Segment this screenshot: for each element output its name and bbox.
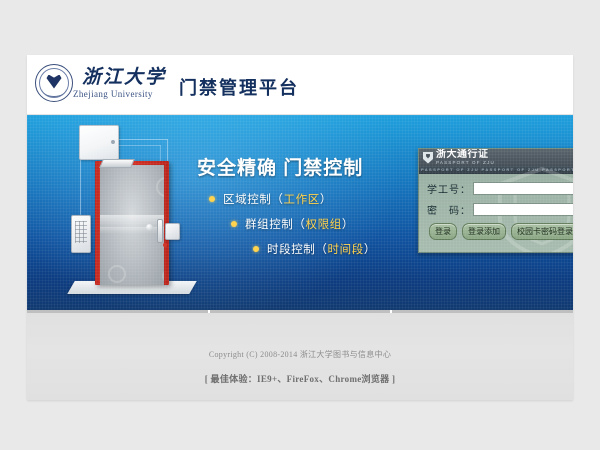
list-item: 区域控制（工作区） <box>209 191 376 207</box>
footer-divider-segment <box>392 310 573 313</box>
banner-headline: 安全精确 门禁控制 <box>197 153 363 180</box>
door-handle-icon <box>157 219 163 243</box>
hero-banner: 安全精确 门禁控制 区域控制（工作区） 群组控制（权限组） 时段控制（时间段） <box>27 115 573 310</box>
page-title: 门禁管理平台 <box>179 74 299 100</box>
footer-divider <box>27 310 573 313</box>
site-header: 浙江大学 Zhejiang University 门禁管理平台 <box>27 55 573 115</box>
copyright-text: Copyright (C) 2008-2014 浙江大学图书与信息中心 <box>27 349 573 360</box>
password-field[interactable] <box>473 203 573 216</box>
access-control-door-illustration <box>49 123 201 305</box>
footer-divider-segment <box>210 310 393 313</box>
browser-recommendation-text: [ 最佳体验：IE9+、FireFox、Chrome浏览器 ] <box>27 372 573 385</box>
site-footer: Copyright (C) 2008-2014 浙江大学图书与信息中心 [ 最佳… <box>27 310 573 400</box>
university-name-en: Zhejiang University <box>73 90 166 99</box>
wire <box>80 157 82 215</box>
login-watermark-strip: PASSPORT OF ZJU PASSPORT OF ZJU PASSPORT… <box>419 166 573 174</box>
login-button[interactable]: 登录 <box>429 223 457 240</box>
seal-emblem-icon <box>47 75 62 89</box>
student-staff-id-field[interactable] <box>473 182 573 195</box>
gear-icon <box>162 269 164 283</box>
door-knob-icon <box>146 224 153 231</box>
gear-icon <box>156 177 164 197</box>
list-item: 群组控制（权限组） <box>231 216 376 232</box>
door-status-led <box>163 243 167 247</box>
feature-highlight: 权限组 <box>306 216 342 232</box>
bullet-dot-icon <box>231 221 237 227</box>
feature-highlight: 工作区 <box>284 191 320 207</box>
password-label: 密 码： <box>427 202 473 217</box>
bullet-dot-icon <box>253 246 259 252</box>
university-name-cn: 浙江大学 <box>82 68 166 87</box>
feature-tail: ） <box>364 241 376 257</box>
feature-highlight: 时间段 <box>328 241 364 257</box>
login-panel-header: 浙大通行证 PASSPORT OF ZJU <box>419 149 573 166</box>
screenshot-canvas: 浙江大学 Zhejiang University 门禁管理平台 <box>0 0 600 450</box>
login-button-group: 登录 登录添加 校园卡密码登录 <box>427 223 566 240</box>
feature-list: 区域控制（工作区） 群组控制（权限组） 时段控制（时间段） <box>209 191 376 266</box>
feature-text: 区域控制（ <box>223 191 284 207</box>
wire <box>116 139 168 141</box>
door-panel <box>100 165 164 285</box>
login-title-en: PASSPORT OF ZJU <box>436 161 495 166</box>
university-logo[interactable]: 浙江大学 Zhejiang University <box>35 64 166 102</box>
zju-seal-icon <box>35 64 73 102</box>
student-staff-id-label: 学工号： <box>427 181 473 196</box>
feature-text: 群组控制（ <box>245 216 306 232</box>
feature-text: 时段控制（ <box>267 241 328 257</box>
seal-arc-icon <box>42 89 66 97</box>
gear-icon <box>108 265 126 283</box>
campus-card-password-login-button[interactable]: 校园卡密码登录 <box>511 223 573 240</box>
bullet-dot-icon <box>209 196 215 202</box>
card-reader-icon <box>165 223 180 240</box>
wire <box>116 145 161 147</box>
field-row-password: 密 码： <box>427 202 566 217</box>
page-sheet: 浙江大学 Zhejiang University 门禁管理平台 <box>27 55 573 400</box>
field-row-id: 学工号： <box>427 181 566 196</box>
login-add-button[interactable]: 登录添加 <box>462 223 506 240</box>
door-controller-box <box>79 125 119 160</box>
login-panel: 浙大通行证 PASSPORT OF ZJU PASSPORT OF ZJU PA… <box>418 148 573 253</box>
keypad-reader-icon <box>71 215 91 253</box>
feature-tail: ） <box>320 191 332 207</box>
login-title-cn: 浙大通行证 <box>436 150 495 160</box>
shield-icon <box>423 152 433 164</box>
list-item: 时段控制（时间段） <box>253 241 376 257</box>
door-closer-bar <box>99 159 135 168</box>
footer-divider-segment <box>27 310 210 313</box>
feature-tail: ） <box>342 216 354 232</box>
login-form: 学工号： 密 码： 登录 登录添加 校园卡密码登录 <box>419 174 573 240</box>
